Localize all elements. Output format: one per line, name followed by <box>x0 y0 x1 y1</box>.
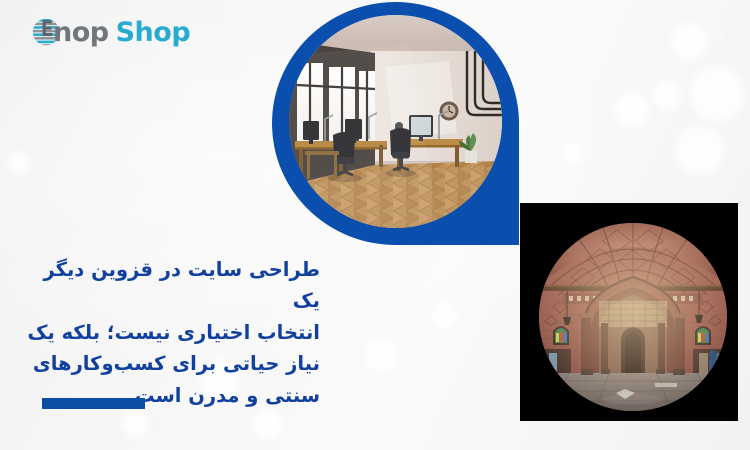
historic-bazaar-interior-photo <box>539 223 727 411</box>
bottom-image-frame <box>520 203 750 438</box>
top-image-frame <box>272 2 519 245</box>
brand-logo[interactable]: nop Shop <box>28 14 190 50</box>
modern-office-interior-photo <box>289 15 502 228</box>
logo-text-shop: Shop <box>116 19 191 46</box>
logo-text-nop: nop <box>53 19 109 46</box>
accent-bar <box>42 398 145 409</box>
headline: طراحی سایت در قزوین دیگر یک انتخاب اختیا… <box>26 222 320 443</box>
headline-text: طراحی سایت در قزوین دیگر یک انتخاب اختیا… <box>26 254 320 412</box>
promo-banner: nop Shop طراحی سایت در قزوین دیگر یک انت… <box>0 0 750 450</box>
